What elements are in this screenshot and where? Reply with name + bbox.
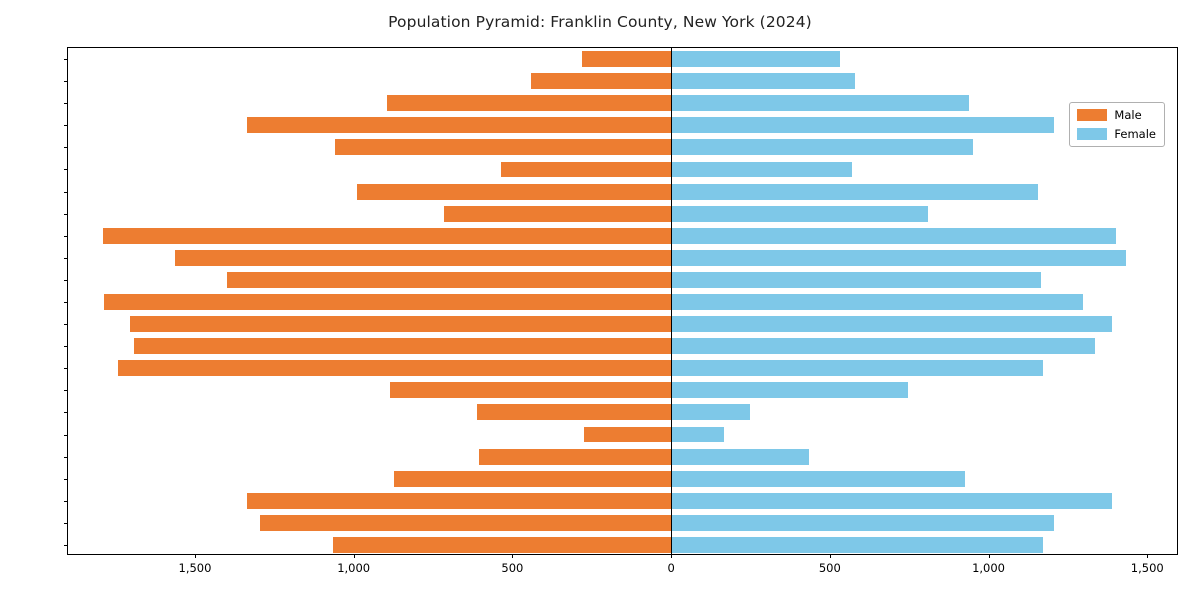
y-tick-mark (64, 125, 68, 126)
bar-female (671, 338, 1095, 354)
bar-male (333, 537, 671, 553)
y-tick-mark (64, 457, 68, 458)
bar-male (501, 162, 671, 178)
population-pyramid-figure: Population Pyramid: Franklin County, New… (0, 0, 1200, 600)
legend-label-female: Female (1114, 127, 1156, 141)
bar-male (444, 206, 671, 222)
bar-male (104, 294, 671, 310)
bar-row (68, 51, 1177, 67)
chart-title: Population Pyramid: Franklin County, New… (0, 13, 1200, 31)
bar-female (671, 162, 852, 178)
bar-row (68, 206, 1177, 222)
bar-female (671, 427, 724, 443)
x-tick-label: 500 (501, 561, 523, 575)
bar-row (68, 139, 1177, 155)
bar-male (479, 449, 671, 465)
bar-female (671, 360, 1042, 376)
bar-male (387, 95, 671, 111)
y-tick-mark (64, 435, 68, 436)
y-tick-mark (64, 390, 68, 391)
y-tick-mark (64, 169, 68, 170)
bar-row (68, 294, 1177, 310)
bar-row (68, 493, 1177, 509)
y-tick-mark (64, 59, 68, 60)
x-tick-mark (195, 554, 196, 558)
bar-male (130, 316, 671, 332)
y-tick-mark (64, 236, 68, 237)
bar-female (671, 404, 750, 420)
legend-swatch-female (1077, 128, 1107, 140)
bar-male (118, 360, 671, 376)
bar-male (394, 471, 671, 487)
bar-row (68, 162, 1177, 178)
y-tick-mark (64, 545, 68, 546)
x-tick-mark (989, 554, 990, 558)
bar-female (671, 382, 907, 398)
y-tick-mark (64, 501, 68, 502)
bar-female (671, 316, 1112, 332)
bar-female (671, 95, 969, 111)
y-tick-mark (64, 103, 68, 104)
bar-female (671, 449, 809, 465)
y-tick-mark (64, 214, 68, 215)
bar-female (671, 184, 1038, 200)
y-tick-mark (64, 81, 68, 82)
bar-male (357, 184, 671, 200)
bar-female (671, 294, 1083, 310)
bar-row (68, 73, 1177, 89)
y-tick-mark (64, 412, 68, 413)
bar-female (671, 493, 1112, 509)
bar-female (671, 537, 1042, 553)
x-tick-mark (512, 554, 513, 558)
zero-axis-line (671, 48, 672, 554)
legend-swatch-male (1077, 109, 1107, 121)
bar-male (247, 117, 671, 133)
x-tick-label: 0 (667, 561, 674, 575)
x-tick-label: 1,500 (1131, 561, 1164, 575)
legend-label-male: Male (1114, 108, 1141, 122)
legend-item-female: Female (1077, 127, 1156, 141)
y-tick-mark (64, 368, 68, 369)
bar-row (68, 338, 1177, 354)
bar-row (68, 382, 1177, 398)
y-tick-mark (64, 280, 68, 281)
bar-male (134, 338, 671, 354)
y-tick-mark (64, 479, 68, 480)
bar-female (671, 206, 928, 222)
x-tick-mark (354, 554, 355, 558)
bar-row (68, 228, 1177, 244)
x-tick-mark (1147, 554, 1148, 558)
y-tick-mark (64, 192, 68, 193)
bar-row (68, 449, 1177, 465)
bar-row (68, 250, 1177, 266)
bar-male (247, 493, 671, 509)
bar-male (584, 427, 671, 443)
x-tick-mark (671, 554, 672, 558)
plot-area: 1,5001,00050005001,0001,500 85+80-8475-7… (67, 47, 1178, 555)
bar-row (68, 316, 1177, 332)
bar-row (68, 360, 1177, 376)
bar-male (175, 250, 671, 266)
bar-female (671, 250, 1126, 266)
bar-female (671, 228, 1116, 244)
bar-row (68, 471, 1177, 487)
y-tick-mark (64, 324, 68, 325)
x-tick-label: 1,000 (972, 561, 1005, 575)
x-tick-mark (830, 554, 831, 558)
bar-male (335, 139, 671, 155)
bar-female (671, 272, 1040, 288)
y-tick-mark (64, 523, 68, 524)
y-tick-mark (64, 258, 68, 259)
bar-row (68, 272, 1177, 288)
bar-female (671, 471, 965, 487)
bar-male (227, 272, 671, 288)
bar-female (671, 139, 973, 155)
bar-row (68, 117, 1177, 133)
bar-male (477, 404, 671, 420)
bar-row (68, 515, 1177, 531)
bar-row (68, 404, 1177, 420)
y-tick-mark (64, 302, 68, 303)
bar-male (103, 228, 672, 244)
bar-male (260, 515, 671, 531)
bar-female (671, 515, 1054, 531)
legend-item-male: Male (1077, 108, 1156, 122)
bar-row (68, 95, 1177, 111)
bars-layer (68, 48, 1177, 554)
chart-legend[interactable]: Male Female (1069, 102, 1165, 147)
bar-male (390, 382, 671, 398)
bar-row (68, 184, 1177, 200)
bar-female (671, 51, 840, 67)
bar-male (582, 51, 672, 67)
x-tick-label: 1,000 (337, 561, 370, 575)
bar-row (68, 427, 1177, 443)
bar-female (671, 117, 1054, 133)
y-tick-mark (64, 346, 68, 347)
x-tick-label: 1,500 (179, 561, 212, 575)
x-tick-label: 500 (819, 561, 841, 575)
bar-male (531, 73, 671, 89)
bar-female (671, 73, 855, 89)
bar-row (68, 537, 1177, 553)
y-tick-mark (64, 147, 68, 148)
